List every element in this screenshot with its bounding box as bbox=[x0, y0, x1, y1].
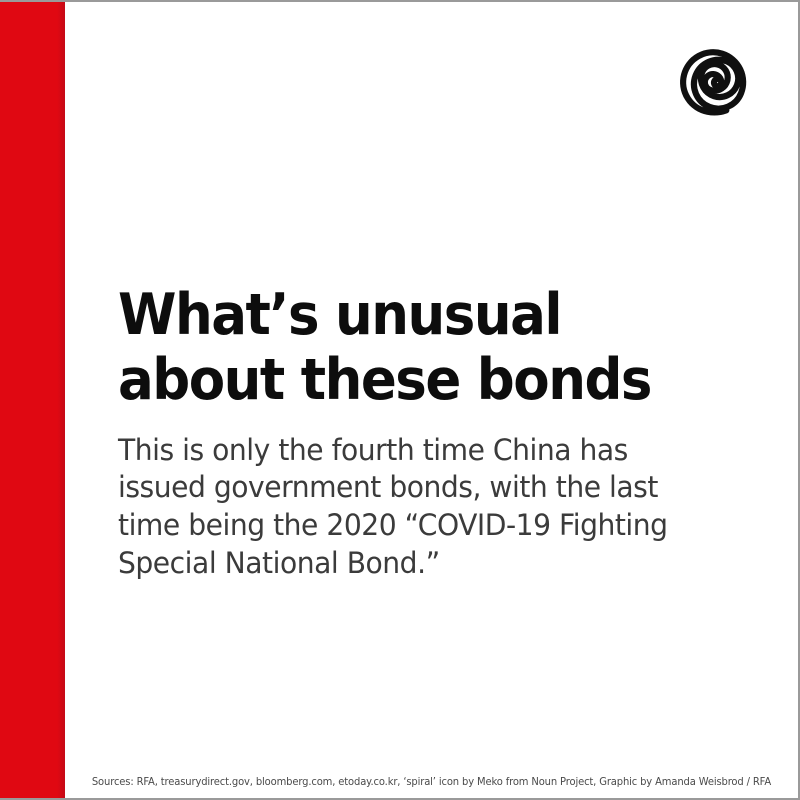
page-title: What’s unusual about these bonds bbox=[118, 283, 713, 413]
deck-line-2: issued government bonds, with the last bbox=[118, 469, 691, 507]
headline-line-2: about these bonds bbox=[118, 348, 713, 413]
deck-line-3: time being the 2020 “COVID-19 Fighting bbox=[118, 507, 691, 545]
infographic-card: What’s unusual about these bonds This is… bbox=[0, 0, 800, 800]
spiral-icon bbox=[668, 32, 768, 134]
headline-line-1: What’s unusual bbox=[118, 283, 713, 348]
footer: Sources: RFA, treasurydirect.gov, bloomb… bbox=[65, 766, 798, 798]
left-accent-bar bbox=[0, 2, 65, 799]
deck-line-1: This is only the fourth time China has bbox=[118, 432, 691, 470]
deck-paragraph: This is only the fourth time China has i… bbox=[118, 432, 691, 584]
sources-credit: Sources: RFA, treasurydirect.gov, bloomb… bbox=[92, 776, 771, 788]
deck-line-4: Special National Bond.” bbox=[118, 545, 691, 583]
